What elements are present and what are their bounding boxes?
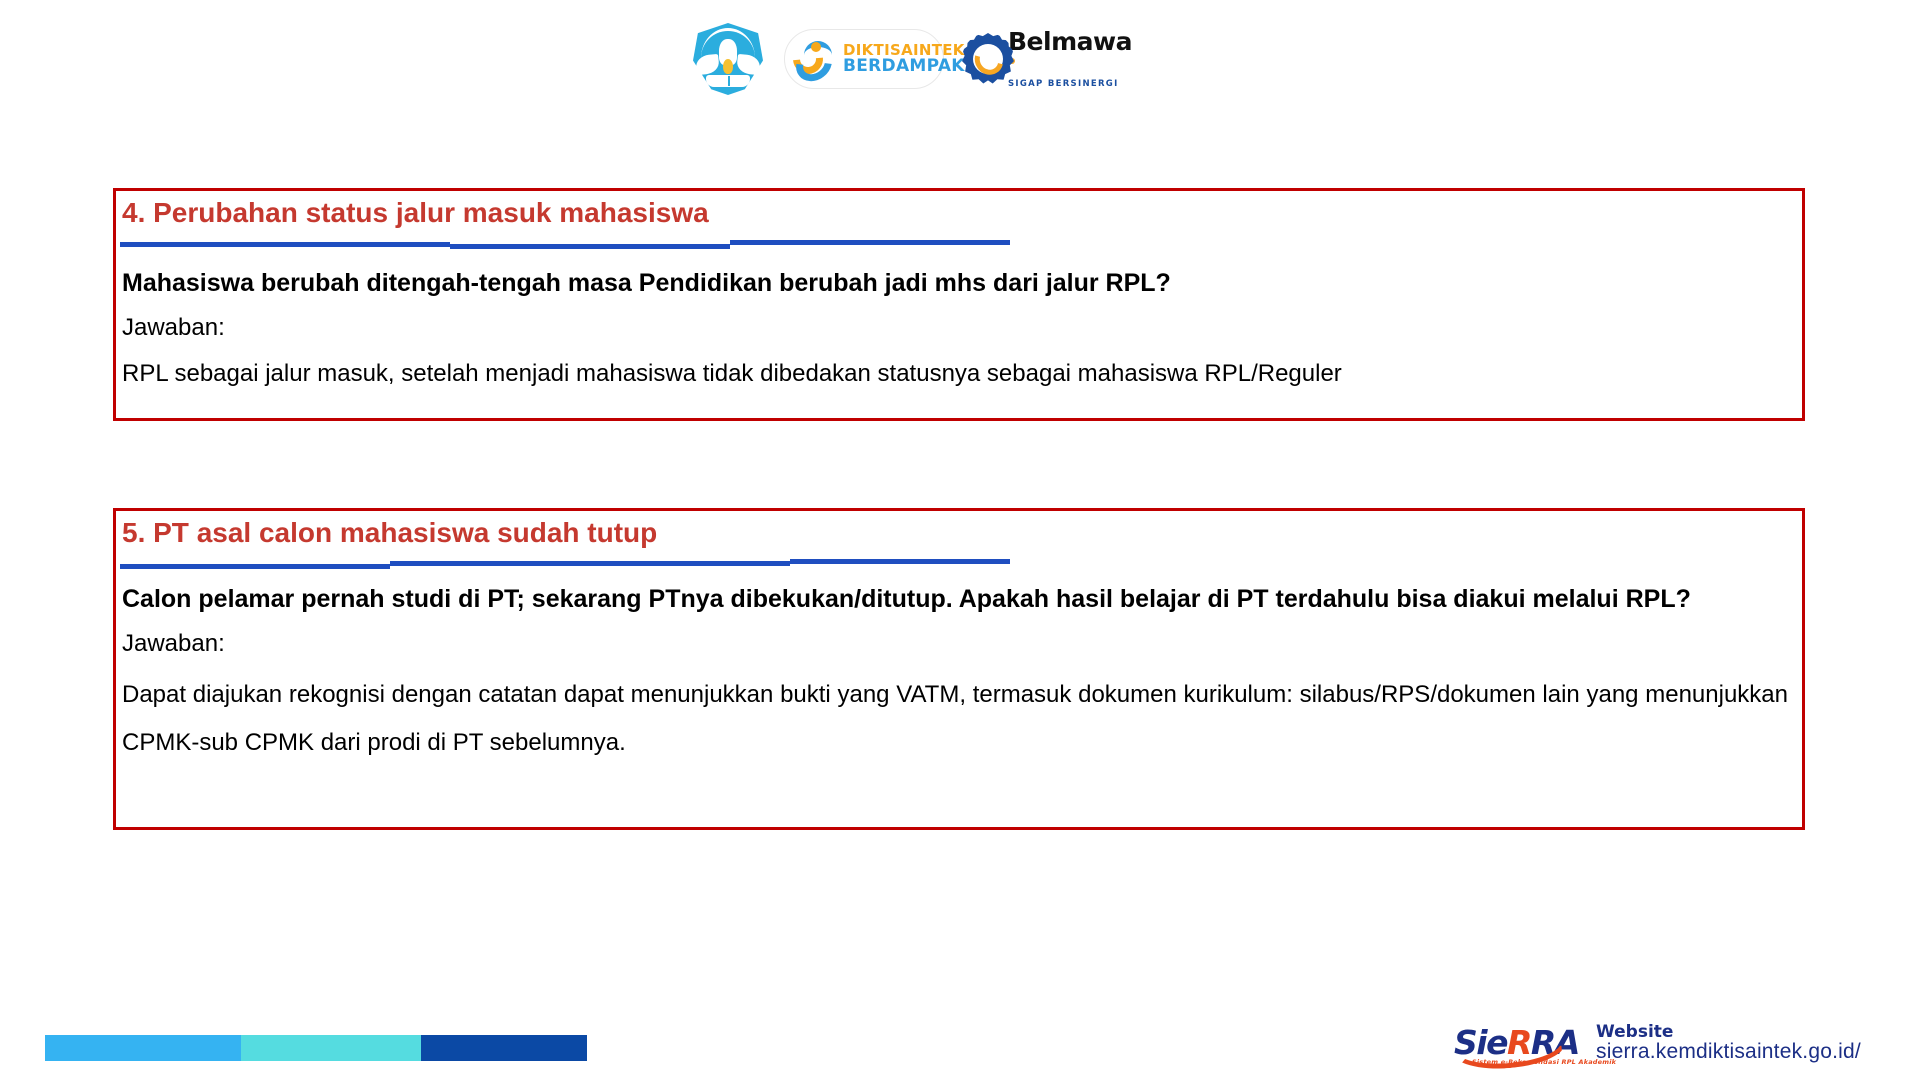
question-box-5-blue-rule (120, 557, 1010, 571)
belmawa-name-row: Belmawa (1008, 29, 1132, 79)
question-box-5-title: 5. PT asal calon mahasiswa sudah tutup (116, 511, 1802, 549)
belmawa-name: Belmawa (1008, 27, 1132, 56)
diktisaintek-figure-icon (791, 35, 839, 83)
twh-flame (723, 59, 733, 74)
question-box-4-question: Mahasiswa berubah ditengah-tengah masa P… (122, 267, 1792, 300)
sierra-website-label: Website (1596, 1023, 1861, 1041)
blue-rule-segment-3 (730, 240, 1010, 245)
question-box-5: 5. PT asal calon mahasiswa sudah tutup C… (113, 508, 1805, 830)
question-box-5-question: Calon pelamar pernah studi di PT; sekara… (122, 583, 1792, 616)
sierra-website-url[interactable]: sierra.kemdiktisaintek.go.id/ (1596, 1041, 1861, 1063)
belmawa-tagline: SIGAP BERSINERGI (1008, 80, 1132, 89)
belmawa-logo: Belmawa SIGAP BERSINERGI (962, 29, 1087, 89)
question-box-4: 4. Perubahan status jalur masuk mahasisw… (113, 188, 1805, 421)
sierra-footer: SieRRA Sistem e-Rekomendasi RPL Akademik… (1450, 1014, 1870, 1072)
footer-bar-segment-2 (241, 1035, 421, 1061)
diktisaintek-wordmark: DIKTISAINTEK BERDAMPAK (843, 43, 965, 76)
question-box-5-answer: Dapat diajukan rekognisi dengan catatan … (122, 671, 1792, 767)
footer-bar-segment-3 (421, 1035, 587, 1061)
blue-rule-segment-1 (120, 564, 390, 569)
question-box-4-answer-label: Jawaban: (122, 312, 1792, 343)
sierra-subtitle: Sistem e-Rekomendasi RPL Akademik (1472, 1058, 1616, 1066)
blue-rule-segment-2 (450, 244, 730, 249)
question-box-5-body: Calon pelamar pernah studi di PT; sekara… (116, 583, 1802, 767)
question-box-4-blue-rule (120, 237, 1010, 251)
question-box-4-answer: RPL sebagai jalur masuk, setelah menjadi… (122, 357, 1792, 391)
question-box-4-title: 4. Perubahan status jalur masuk mahasisw… (116, 191, 1802, 229)
question-box-4-body: Mahasiswa berubah ditengah-tengah masa P… (116, 267, 1802, 391)
sierra-logo-icon: SieRRA Sistem e-Rekomendasi RPL Akademik (1450, 1017, 1590, 1069)
blue-rule-segment-2 (390, 561, 790, 566)
tut-wuri-handayani-logo-icon (690, 21, 766, 97)
diktisaintek-line2: BERDAMPAK (843, 58, 965, 75)
twh-book (706, 75, 750, 87)
belmawa-gear-icon (962, 33, 1014, 85)
blue-rule-segment-1 (120, 242, 450, 247)
footer-bar-segment-1 (45, 1035, 241, 1061)
header-logo-strip: DIKTISAINTEK BERDAMPAK Belmawa SIGAP BER… (690, 18, 1140, 100)
diktisaintek-head (811, 42, 821, 52)
question-box-5-answer-label: Jawaban: (122, 628, 1792, 659)
belmawa-wordmark: Belmawa SIGAP BERSINERGI (1008, 29, 1132, 89)
sierra-website-block: Website sierra.kemdiktisaintek.go.id/ (1596, 1023, 1861, 1063)
footer-color-bar (45, 1035, 587, 1061)
diktisaintek-berdampak-logo: DIKTISAINTEK BERDAMPAK (784, 29, 944, 89)
blue-rule-segment-3 (790, 559, 1010, 564)
